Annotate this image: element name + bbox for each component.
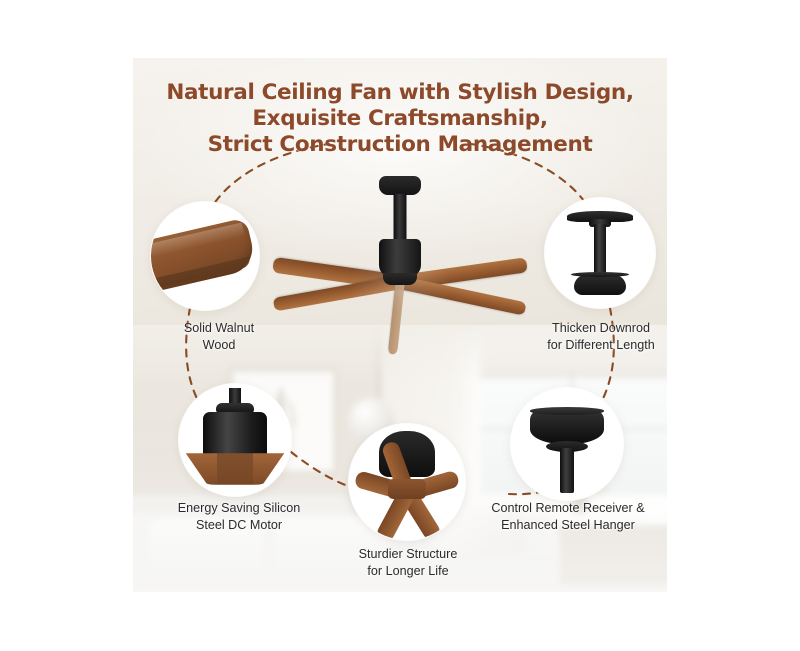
ceiling-fan-hero bbox=[235, 176, 565, 341]
receiver-downrod bbox=[560, 448, 573, 493]
fan-motor-housing bbox=[379, 239, 421, 277]
callout-label-solid-walnut-wood: Solid Walnut Wood bbox=[133, 320, 319, 353]
page-canvas: Natural Ceiling Fan with Stylish Design,… bbox=[0, 0, 800, 651]
fan-downrod bbox=[394, 194, 407, 242]
fan-hub-photo bbox=[349, 424, 465, 540]
callout-bubble-sturdier-structure[interactable] bbox=[349, 424, 465, 540]
fan-hub bbox=[383, 273, 417, 285]
walnut-blade-photo bbox=[151, 202, 259, 310]
callout-label-sturdier-structure: Sturdier Structure for Longer Life bbox=[310, 546, 506, 579]
receiver-canopy-photo bbox=[511, 388, 623, 500]
heading-line-2: Exquisite Craftsmanship, bbox=[133, 106, 667, 132]
downrod-motor-mount bbox=[574, 275, 627, 295]
heading-line-1: Natural Ceiling Fan with Stylish Design, bbox=[133, 80, 667, 106]
motor-blade-roots bbox=[186, 451, 285, 485]
receiver-canopy-housing bbox=[530, 410, 604, 444]
page-title: Natural Ceiling Fan with Stylish Design,… bbox=[133, 80, 667, 159]
heading-line-3: Strict Construction Management bbox=[133, 132, 667, 158]
fan-ceiling-canopy bbox=[379, 176, 421, 195]
callout-label-remote-receiver: Control Remote Receiver & Enhanced Steel… bbox=[459, 500, 667, 533]
callout-bubble-dc-motor[interactable] bbox=[179, 384, 291, 496]
infographic-panel: Natural Ceiling Fan with Stylish Design,… bbox=[133, 58, 667, 592]
fan-blade bbox=[399, 276, 527, 316]
motor-body bbox=[203, 412, 268, 459]
callout-bubble-thicken-downrod[interactable] bbox=[545, 198, 655, 308]
callout-bubble-solid-walnut-wood[interactable] bbox=[151, 202, 259, 310]
dc-motor-photo bbox=[179, 384, 291, 496]
hub-mounting-plate bbox=[388, 479, 425, 500]
downrod-photo bbox=[545, 198, 655, 308]
callout-label-dc-motor: Energy Saving Silicon Steel DC Motor bbox=[141, 500, 337, 533]
callout-label-thicken-downrod: Thicken Downrod for Different Length bbox=[501, 320, 667, 353]
callout-bubble-remote-receiver[interactable] bbox=[511, 388, 623, 500]
